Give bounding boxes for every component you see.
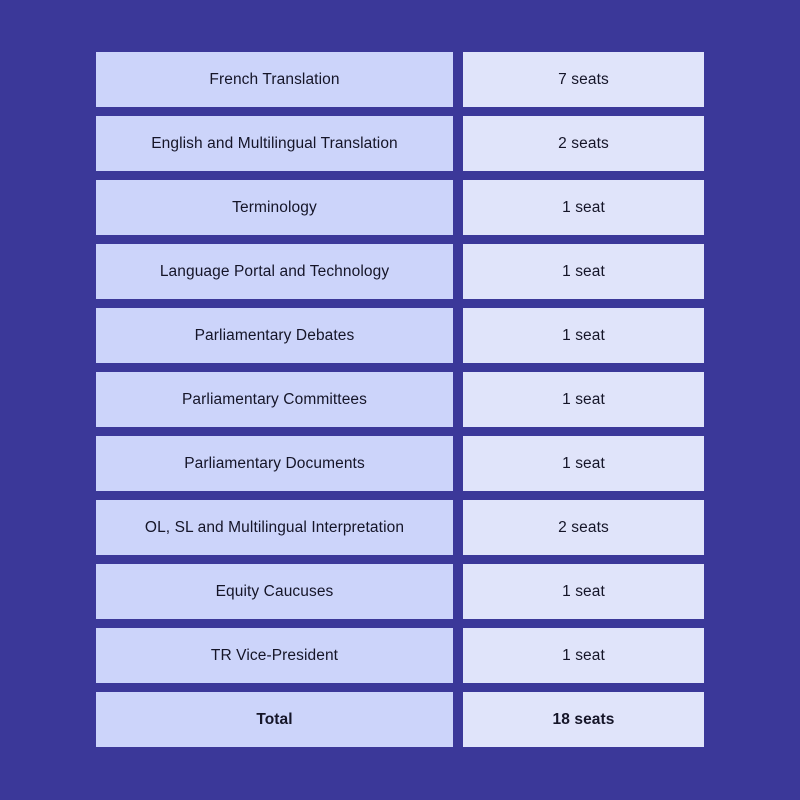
seat-count-cell: 7 seats bbox=[463, 52, 704, 107]
unit-name-cell: French Translation bbox=[96, 52, 453, 107]
unit-name-cell: Parliamentary Debates bbox=[96, 308, 453, 363]
table-row-total: Total18 seats bbox=[96, 692, 704, 747]
unit-name-cell: English and Multilingual Translation bbox=[96, 116, 453, 171]
table-row: Parliamentary Committees1 seat bbox=[96, 372, 704, 427]
total-seats-cell: 18 seats bbox=[463, 692, 704, 747]
table-row: Terminology1 seat bbox=[96, 180, 704, 235]
table-row: Parliamentary Debates1 seat bbox=[96, 308, 704, 363]
seat-count-cell: 1 seat bbox=[463, 628, 704, 683]
table-row: OL, SL and Multilingual Interpretation2 … bbox=[96, 500, 704, 555]
table-row: Parliamentary Documents1 seat bbox=[96, 436, 704, 491]
unit-name-cell: OL, SL and Multilingual Interpretation bbox=[96, 500, 453, 555]
seat-count-cell: 2 seats bbox=[463, 116, 704, 171]
seat-count-cell: 1 seat bbox=[463, 308, 704, 363]
table-row: Equity Caucuses1 seat bbox=[96, 564, 704, 619]
seat-count-cell: 1 seat bbox=[463, 244, 704, 299]
unit-name-cell: Parliamentary Documents bbox=[96, 436, 453, 491]
seat-count-cell: 1 seat bbox=[463, 564, 704, 619]
seat-allocation-table: French Translation7 seatsEnglish and Mul… bbox=[96, 52, 704, 747]
page-root: French Translation7 seatsEnglish and Mul… bbox=[0, 0, 800, 800]
unit-name-cell: Parliamentary Committees bbox=[96, 372, 453, 427]
seat-count-cell: 1 seat bbox=[463, 180, 704, 235]
seat-count-cell: 2 seats bbox=[463, 500, 704, 555]
seat-count-cell: 1 seat bbox=[463, 436, 704, 491]
total-label-cell: Total bbox=[96, 692, 453, 747]
seat-count-cell: 1 seat bbox=[463, 372, 704, 427]
table-row: French Translation7 seats bbox=[96, 52, 704, 107]
unit-name-cell: Terminology bbox=[96, 180, 453, 235]
unit-name-cell: Equity Caucuses bbox=[96, 564, 453, 619]
table-row: TR Vice-President1 seat bbox=[96, 628, 704, 683]
table-row: Language Portal and Technology1 seat bbox=[96, 244, 704, 299]
unit-name-cell: Language Portal and Technology bbox=[96, 244, 453, 299]
unit-name-cell: TR Vice-President bbox=[96, 628, 453, 683]
table-row: English and Multilingual Translation2 se… bbox=[96, 116, 704, 171]
